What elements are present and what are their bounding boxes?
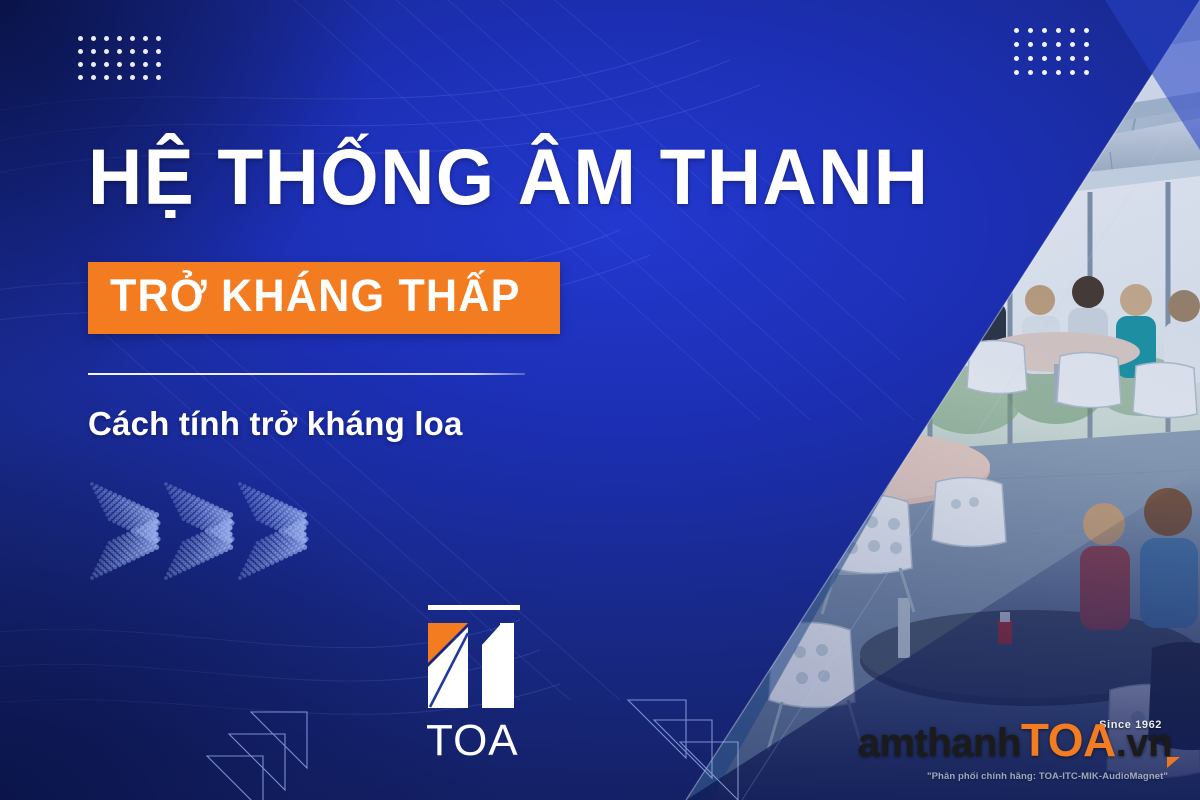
toa-logo-mark-icon [428,623,526,708]
watermark-tagline: "Phân phối chính hãng: TOA-ITC-MIK-Audio… [927,771,1168,782]
site-watermark: Since 1962 amthanhTOA.vn "Phân phối chín… [886,714,1186,788]
banner-root: HỆ THỐNG ÂM THANH TRỞ KHÁNG THẤP Cách tí… [0,0,1200,800]
toa-logo-text: TOA [420,718,550,764]
watermark-arrow-icon [1167,757,1180,768]
toa-logo-bar [428,605,520,610]
watermark-brand-mid: TOA [1021,714,1116,766]
watermark-brand: amthanhTOA.vn [858,719,1172,764]
toa-logo: TOA [420,605,550,765]
highlight-badge: TRỞ KHÁNG THẤP [88,262,560,334]
watermark-brand-suffix: .vn [1116,721,1172,765]
page-subtitle: Cách tính trở kháng loa [88,402,463,446]
chevron-dots-decoration [86,476,316,586]
title-divider [88,373,525,375]
page-title: HỆ THỐNG ÂM THANH [88,131,810,223]
watermark-brand-prefix: amthanh [858,721,1021,765]
highlight-label: TRỞ KHÁNG THẤP [110,271,521,321]
